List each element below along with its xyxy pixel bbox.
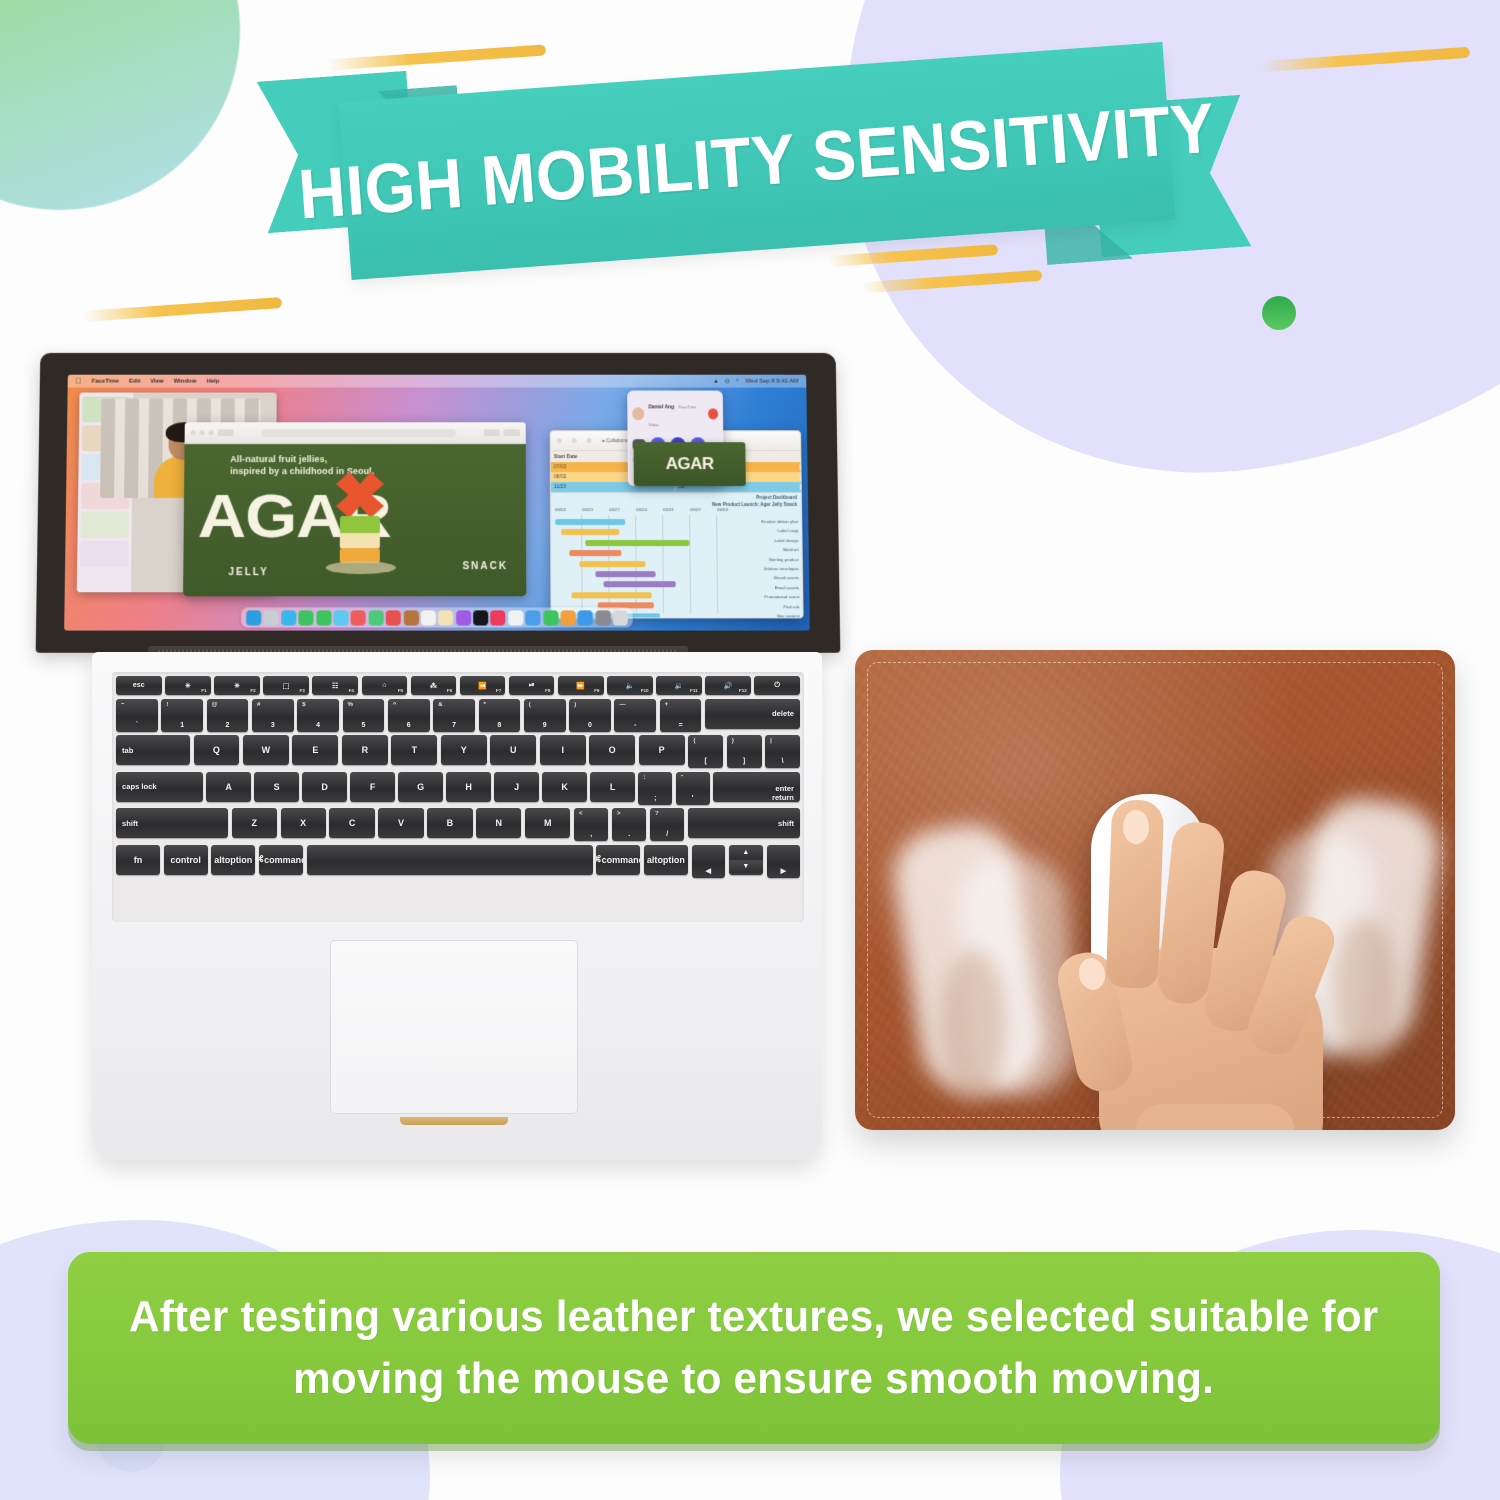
key-label: / (666, 831, 668, 838)
keyboard-row: fncontrolaltoption⌘command⌘commandaltopt… (116, 845, 800, 878)
key-label: ` (136, 722, 138, 729)
gantt-task-label: Pad sub (762, 604, 799, 609)
key-8[interactable]: *8 (479, 699, 521, 732)
messages-icon[interactable] (316, 610, 331, 625)
key-label: C (349, 818, 356, 828)
keyboard-row: caps lockASDFGHJKL:;"'enterreturn (116, 772, 800, 805)
key-label: G (417, 782, 424, 792)
key-label: control (170, 855, 201, 865)
key--[interactable]: "' (676, 772, 710, 805)
clock-label: Wed Sep 8 9:41 AM (745, 378, 798, 384)
key-fn-label: F5 (398, 688, 403, 693)
key-0[interactable]: )0 (569, 699, 611, 732)
key-label: . (628, 831, 630, 838)
macos-menubar:  FaceTime Edit View Window Help ▲ ◎ ⌕ W… (68, 375, 807, 388)
music-icon[interactable] (491, 610, 506, 625)
traffic-light-close-icon[interactable] (557, 438, 562, 443)
key-label: O (609, 745, 616, 755)
key-fn-label: F7 (496, 688, 501, 693)
key-label: U (510, 745, 517, 755)
key-sup-label: @ (212, 702, 218, 708)
key--[interactable]: ▶ (767, 845, 800, 878)
appletv-icon[interactable] (473, 610, 488, 625)
key-fn-label: F8 (545, 688, 550, 693)
key-label: ⏯ (529, 682, 535, 690)
gantt-task-label: Promotional event (762, 594, 799, 599)
key-label: option (657, 855, 685, 865)
laptop-lid:  FaceTime Edit View Window Help ▲ ◎ ⌕ W… (36, 353, 841, 653)
key-9[interactable]: (9 (524, 699, 566, 732)
sidebar-thumb (81, 512, 129, 538)
key-fn-label: F6 (447, 688, 452, 693)
key-label: 0 (588, 722, 592, 729)
key-sup-label: — (619, 702, 625, 708)
key--[interactable]: >. (612, 808, 646, 841)
key-u[interactable]: U (490, 735, 536, 765)
key-label: 6 (407, 722, 411, 729)
key-n[interactable]: N (476, 808, 521, 838)
key-y[interactable]: Y (441, 735, 487, 765)
speed-streak-icon (82, 297, 282, 322)
key-l[interactable]: L (590, 772, 634, 802)
pages-icon[interactable] (560, 610, 575, 625)
slide-tag-left: JELLY (228, 567, 268, 578)
menubar-item-edit[interactable]: Edit (129, 378, 140, 384)
key-f[interactable]: F (350, 772, 394, 802)
key-label: esc (133, 682, 145, 689)
key-i[interactable]: I (540, 735, 586, 765)
key-t[interactable]: T (391, 735, 437, 765)
key-z[interactable]: Z (232, 808, 277, 838)
gantt-task-label: Mold art (761, 547, 798, 552)
key-label: I (561, 745, 564, 755)
key-label: ' (692, 795, 694, 802)
keyboard-row: esc☀F1☀F2⬚F3☷F4⌂F5⁂F6⏪F7⏯F8⏩F9🔈F10🔉F11🔊F… (116, 676, 800, 695)
key-label: [ (704, 758, 706, 765)
key-label: J (514, 782, 519, 792)
key-sup-label: ^ (393, 702, 397, 708)
gantt-task-label: Site content (762, 613, 799, 618)
key--[interactable]: ?/ (650, 808, 684, 841)
laptop-keyboard[interactable]: esc☀F1☀F2⬚F3☷F4⌂F5⁂F6⏪F7⏯F8⏩F9🔈F10🔉F11🔊F… (112, 672, 804, 922)
key-label: W (262, 745, 271, 755)
key-label: 🔉 (675, 682, 684, 690)
key--[interactable]: ⏪F7 (460, 676, 506, 695)
key-sup-label: ( (529, 702, 531, 708)
key-label: fn (134, 855, 143, 865)
key-label: H (465, 782, 472, 792)
key-label: \ (782, 758, 784, 765)
key-label: ⁂ (430, 682, 437, 690)
photos-icon[interactable] (351, 610, 366, 625)
decorative-dot-green (1262, 296, 1296, 330)
slide-subtitle-line1: All-natural fruit jellies, (230, 453, 480, 465)
launchpad-icon[interactable] (263, 610, 278, 625)
key-2[interactable]: @2 (207, 699, 249, 732)
key-label: ☷ (332, 682, 338, 690)
facetime-share-panel[interactable]: Daniel Ang FaceTime Video Currently Shar… (627, 391, 724, 486)
notes-icon[interactable] (421, 610, 436, 625)
key--[interactable]: 🔈F10 (607, 676, 653, 695)
key--[interactable]: ⬚F3 (263, 676, 309, 695)
laptop-trackpad[interactable] (330, 940, 578, 1114)
speed-streak-icon (828, 244, 998, 267)
key-label: command (602, 855, 641, 865)
key-r[interactable]: R (342, 735, 388, 765)
wifi-icon[interactable]: ▲ (713, 378, 719, 384)
gantt-date-tick: 06/27 (609, 507, 636, 512)
key-arrow-up[interactable]: ▲ (729, 846, 763, 859)
key-fn-label: F1 (201, 688, 206, 693)
key-space[interactable]: ▲▼ (729, 845, 763, 875)
key-label: , (590, 831, 592, 838)
keyboard-row: shiftZXCVBNM<,>.?/shift (116, 808, 800, 841)
key-space[interactable] (307, 845, 593, 875)
key-label: ] (743, 758, 745, 765)
appstore-icon[interactable] (578, 610, 593, 625)
keynote-toolbar (185, 422, 526, 444)
speed-streak-icon (862, 270, 1042, 294)
key-label: R (362, 745, 369, 755)
podcasts-icon[interactable] (456, 610, 471, 625)
key-label: ☀ (185, 682, 191, 690)
menubar-item-help[interactable]: Help (207, 378, 220, 384)
key-label: delete (772, 709, 794, 718)
laptop-base: esc☀F1☀F2⬚F3☷F4⌂F5⁂F6⏪F7⏯F8⏩F9🔈F10🔉F11🔊F… (92, 652, 822, 1160)
key--[interactable]: 🔉F11 (656, 676, 702, 695)
key-label: 4 (316, 722, 320, 729)
key-label: 9 (543, 722, 547, 729)
gantt-task-label: Email assets (762, 585, 799, 590)
key-label: 1 (180, 722, 184, 729)
gantt-bar (569, 550, 621, 556)
key--[interactable]: —- (614, 699, 656, 732)
maps-icon[interactable] (368, 610, 383, 625)
key-shift[interactable]: shift (116, 808, 228, 838)
gantt-date-tick: 06/31 (663, 507, 690, 512)
sidebar-thumb (80, 541, 128, 567)
key-delete[interactable]: delete (705, 699, 800, 729)
key-label: shift (122, 819, 138, 828)
key-label: option (225, 855, 253, 865)
key-q[interactable]: Q (194, 735, 240, 765)
freeform-icon[interactable] (508, 610, 523, 625)
key--[interactable]: ⁂F6 (411, 676, 457, 695)
reminders-icon[interactable] (438, 610, 453, 625)
key-fn-label: F11 (690, 688, 698, 693)
key--[interactable]: |\ (765, 735, 800, 768)
speed-streak-icon (326, 44, 546, 70)
menubar-item-window[interactable]: Window (174, 378, 197, 384)
key--[interactable]: ⌂F5 (362, 676, 408, 695)
gantt-task-label: Label copy (761, 528, 798, 533)
gantt-title-main: Project Dashboard (712, 495, 797, 502)
keynote-icon[interactable] (526, 610, 541, 625)
key-sup-label: } (732, 738, 734, 744)
leather-mousepad (855, 650, 1455, 1130)
traffic-light-close-icon[interactable] (191, 430, 196, 435)
jelly-block-green (340, 516, 380, 534)
key-space[interactable]: enterreturn (713, 772, 800, 802)
key-x[interactable]: X (281, 808, 326, 838)
key-label-return: return (772, 793, 794, 802)
key--[interactable]: ☀F1 (165, 676, 211, 695)
key-label: K (561, 782, 568, 792)
menubar-item-view[interactable]: View (150, 378, 164, 384)
key-label: V (398, 818, 404, 828)
key--[interactable]: ~` (116, 699, 158, 732)
key-label: ; (654, 795, 656, 802)
key--[interactable]: ⏯F8 (509, 676, 555, 695)
caption-box: After testing various leather textures, … (68, 1252, 1440, 1444)
key-fn-label: F4 (349, 688, 354, 693)
key--[interactable]: :; (638, 772, 672, 805)
toolbar-button[interactable] (484, 429, 500, 436)
key-command[interactable]: ⌘command (259, 845, 303, 875)
key-g[interactable]: G (398, 772, 442, 802)
key-sup-label: : (643, 775, 645, 781)
key--[interactable]: ⏻ (754, 676, 800, 695)
files-icon[interactable] (403, 610, 418, 625)
key-sup-label: " (681, 775, 684, 781)
gantt-bar (585, 540, 689, 546)
key-label: A (225, 782, 232, 792)
traffic-light-zoom-icon[interactable] (587, 438, 592, 443)
key--[interactable]: ☀F2 (214, 676, 260, 695)
key-tab[interactable]: tab (116, 735, 190, 765)
key--[interactable]: {[ (688, 735, 723, 768)
jelly-plate (326, 561, 396, 574)
key-sup-label: < (579, 811, 583, 817)
toolbar-button[interactable] (504, 429, 520, 436)
key-label: ⏻ (774, 682, 780, 690)
gantt-task-label: Jelebox envelopes (762, 566, 799, 571)
end-call-icon[interactable] (708, 408, 718, 419)
key-label: S (274, 782, 280, 792)
lid-latch (400, 1117, 508, 1125)
keynote-window[interactable]: All-natural fruit jellies, inspired by a… (183, 422, 526, 596)
key-fn-label: F12 (739, 688, 747, 693)
trash-icon[interactable] (613, 610, 628, 625)
key-command[interactable]: ⌘command (596, 845, 640, 875)
numbers-icon[interactable] (543, 610, 558, 625)
gantt-task-label: Sterling product (761, 557, 798, 562)
key-label: E (312, 745, 318, 755)
key-m[interactable]: M (525, 808, 570, 838)
key-k[interactable]: K (542, 772, 586, 802)
key-label: = (679, 722, 683, 729)
jelly-star-piece (336, 472, 384, 518)
key-esc[interactable]: esc (116, 676, 162, 695)
key-c[interactable]: C (329, 808, 374, 838)
jelly-block-cream (340, 533, 380, 549)
key-sup-label: ! (166, 702, 168, 708)
keyboard-row: tabQWERTYUIOP{[}]|\ (116, 735, 800, 768)
key-label: ⏪ (478, 682, 487, 690)
finder-icon[interactable] (246, 610, 261, 625)
menubar-status-area: ▲ ◎ ⌕ Wed Sep 8 9:41 AM (713, 378, 799, 385)
key-v[interactable]: V (378, 808, 423, 838)
gantt-date-tick: 06/04 (717, 507, 744, 512)
key--[interactable]: 🔊F12 (705, 676, 751, 695)
key--[interactable]: ☷F4 (312, 676, 358, 695)
gantt-bar (579, 561, 645, 567)
key-sup-label: { (693, 738, 695, 744)
key-label: X (300, 818, 306, 828)
key-a[interactable]: A (206, 772, 250, 802)
key-label: ◀ (706, 867, 711, 875)
key-label: ☀ (234, 682, 240, 690)
key-sup-label: ~ (121, 702, 125, 708)
camera-icon[interactable] (386, 610, 401, 625)
key-shift[interactable]: shift (688, 808, 800, 838)
keyboard-row: ~`!1@2#3$4%5^6&7*8(9)0—-+=delete (116, 699, 800, 732)
key-label: D (321, 782, 328, 792)
key-s[interactable]: S (254, 772, 298, 802)
gantt-date-tick: 06/07 (690, 507, 717, 512)
jelly-product-illustration (330, 472, 390, 576)
key-arrow-down[interactable]: ▼ (729, 860, 763, 873)
key--[interactable]: += (660, 699, 702, 732)
key-o[interactable]: O (589, 735, 635, 765)
key--[interactable]: <, (574, 808, 608, 841)
key-label: tab (122, 746, 133, 755)
key-label: 3 (271, 722, 275, 729)
key-label: 5 (361, 722, 365, 729)
laptop-product-photo:  FaceTime Edit View Window Help ▲ ◎ ⌕ W… (30, 352, 840, 1172)
slide-tag-right: SNACK (462, 561, 508, 572)
apple-logo-icon:  (76, 377, 82, 385)
key-d[interactable]: D (302, 772, 346, 802)
key-sup-label: + (665, 702, 669, 708)
key-p[interactable]: P (639, 735, 685, 765)
toolbar-button[interactable] (218, 429, 234, 436)
key-label: ▶ (781, 867, 786, 875)
key-label: N (496, 818, 503, 828)
key-label: T (412, 745, 418, 755)
key-label-enter: enter (775, 784, 794, 793)
key-sup-label: alt (214, 855, 225, 865)
key-label: ⌂ (382, 682, 386, 689)
key-4[interactable]: $4 (297, 699, 339, 732)
traffic-light-minimize-icon[interactable] (572, 438, 577, 443)
gantt-bar (595, 571, 655, 577)
gantt-date-tick: 06/24 (636, 507, 663, 512)
key-sup-label: > (617, 811, 621, 817)
key-fn[interactable]: fn (116, 845, 160, 875)
hand-on-mouse (1043, 856, 1373, 1130)
gantt-task-label: Label design (761, 538, 798, 543)
key-label: L (610, 782, 616, 792)
control-center-icon[interactable]: ◎ (725, 378, 730, 385)
key-label: ⏩ (576, 682, 585, 690)
key-1[interactable]: !1 (161, 699, 203, 732)
hand-motion-ghost-left (941, 950, 1007, 1100)
mail-icon[interactable] (298, 610, 313, 625)
traffic-light-zoom-icon[interactable] (209, 430, 214, 435)
caller-name: Daniel Ang (648, 404, 674, 410)
key-w[interactable]: W (243, 735, 289, 765)
key-sup-label: # (257, 702, 260, 708)
key-sup-label: ) (574, 702, 576, 708)
menubar-item-app[interactable]: FaceTime (92, 378, 120, 384)
key-label: 2 (226, 722, 230, 729)
shared-thumb-label: AGAR (666, 454, 714, 474)
key-j[interactable]: J (494, 772, 538, 802)
wrist (1135, 1104, 1295, 1130)
gantt-date-axis: 06/02 06/20 06/27 06/24 06/31 06/07 06/0… (555, 507, 744, 512)
gantt-task-labels: Finalize ribbon planLabel copyLabel desi… (761, 519, 800, 618)
key--[interactable]: }] (727, 735, 762, 768)
gantt-bar (555, 519, 625, 525)
key-label: command (264, 855, 303, 865)
key-fn-label: F3 (299, 688, 304, 693)
product-feature-slide: HIGH MOBILITY SENSITIVITY  FaceTime Edi… (0, 0, 1500, 1500)
gantt-chart: Project Dashboard New Product Launch: Ag… (551, 492, 803, 617)
fingernail (1123, 810, 1149, 844)
key-label: 7 (452, 722, 456, 729)
key--[interactable]: ◀ (692, 845, 725, 878)
key-b[interactable]: B (427, 808, 472, 838)
key-3[interactable]: #3 (252, 699, 294, 732)
key-label: M (544, 818, 552, 828)
gantt-date-tick: 06/20 (582, 507, 609, 512)
key-e[interactable]: E (292, 735, 338, 765)
key-sup-label: & (438, 702, 442, 708)
gantt-bar-group (555, 519, 716, 618)
caption-line-2: moving the mouse to ensure smooth moving… (294, 1348, 1215, 1410)
key-label: caps lock (122, 782, 157, 791)
key-label: 8 (497, 722, 501, 729)
macos-dock[interactable] (241, 607, 633, 627)
facetime-icon[interactable] (333, 610, 348, 625)
key-fn-label: F2 (250, 688, 255, 693)
presentation-slide: All-natural fruit jellies, inspired by a… (183, 444, 526, 596)
caller-info: Daniel Ang FaceTime Video (648, 396, 704, 432)
headline-text: HIGH MOBILITY SENSITIVITY (297, 92, 1218, 229)
key-label: - (634, 722, 636, 729)
key-label: B (447, 818, 454, 828)
key--[interactable]: ⏩F9 (558, 676, 604, 695)
key-sup-label: $ (302, 702, 305, 708)
traffic-light-minimize-icon[interactable] (200, 430, 205, 435)
gantt-date-tick: 06/02 (555, 507, 582, 512)
key-caps-lock[interactable]: caps lock (116, 772, 203, 802)
key-label: 🔊 (724, 682, 733, 690)
gantt-bar (604, 582, 676, 588)
search-icon[interactable]: ⌕ (736, 378, 739, 385)
headline-ribbon: HIGH MOBILITY SENSITIVITY (262, 58, 1242, 298)
key-label: shift (778, 819, 794, 828)
settings-icon[interactable] (595, 610, 610, 625)
key-h[interactable]: H (446, 772, 490, 802)
key-control[interactable]: control (164, 845, 208, 875)
key-sup-label: ? (655, 811, 659, 817)
gantt-bar (571, 592, 651, 598)
key-5[interactable]: %5 (343, 699, 385, 732)
key-sup-label: alt (647, 855, 658, 865)
key-label: Q (213, 745, 220, 755)
toolbar-title-field[interactable] (261, 429, 456, 437)
key-option[interactable]: altoption (644, 845, 688, 875)
key-7[interactable]: &7 (433, 699, 475, 732)
avatar (632, 407, 644, 420)
key-6[interactable]: ^6 (388, 699, 430, 732)
key-fn-label: F9 (594, 688, 599, 693)
key-option[interactable]: altoption (211, 845, 255, 875)
safari-icon[interactable] (281, 610, 296, 625)
shared-content-thumbnail[interactable]: AGAR (634, 442, 746, 486)
